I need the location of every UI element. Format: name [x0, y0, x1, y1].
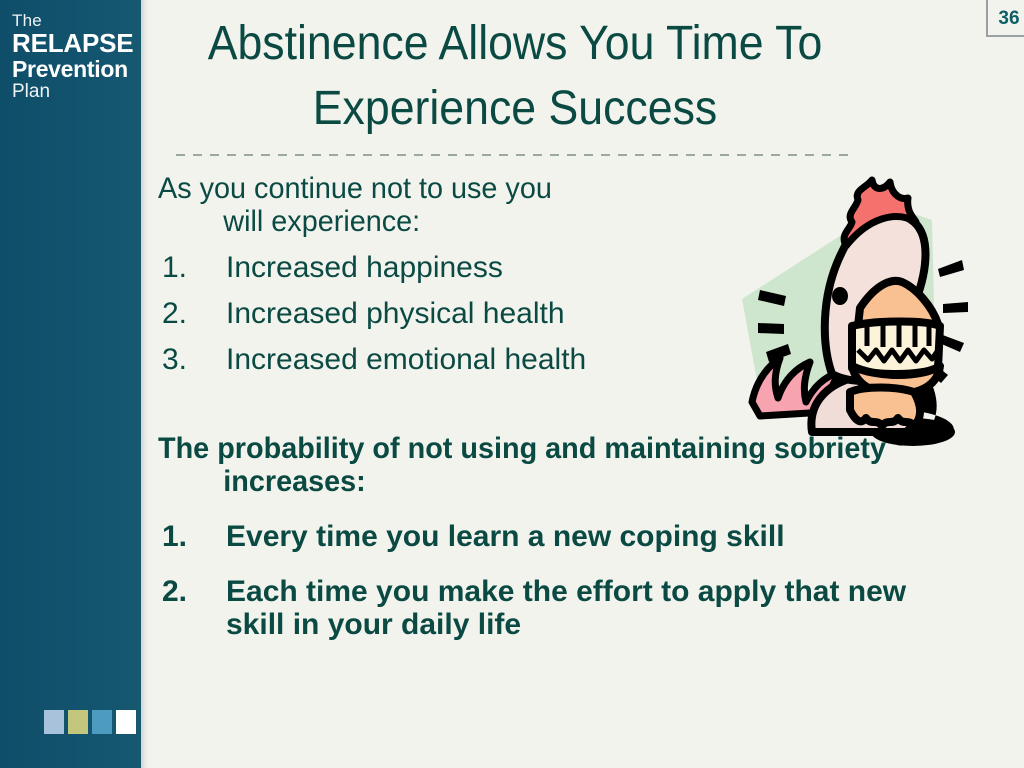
brand-line-plan: Plan — [12, 82, 140, 103]
brand-line-relapse: RELAPSE — [12, 30, 140, 57]
list-item-number: 1. — [158, 251, 226, 284]
title-divider — [176, 154, 856, 156]
section-one-lead-line1: As you continue not to use you — [158, 172, 552, 205]
brand-line-prevention: Prevention — [12, 57, 140, 81]
list-item-number: 2. — [158, 575, 226, 608]
brand-logo: The RELAPSE Prevention Plan — [12, 12, 140, 103]
sidebar-edge-highlight — [141, 0, 149, 768]
page-number: 36 — [990, 8, 1024, 30]
list-item: 2. Each time you make the effort to appl… — [158, 575, 998, 641]
swatch-olive — [68, 710, 88, 734]
smiling-chicken-clipart — [700, 160, 1024, 460]
swatch-light-blue — [44, 710, 64, 734]
section-two-lead-line2: increases: — [158, 465, 964, 498]
body-section-two: The probability of not using and maintai… — [158, 432, 998, 641]
list-item: 1. Every time you learn a new coping ski… — [158, 520, 998, 553]
slide-canvas: The RELAPSE Prevention Plan 36 Abstinenc… — [0, 0, 1024, 768]
list-item-number: 1. — [158, 520, 226, 553]
list-item-text: Every time you learn a new coping skill — [226, 520, 956, 553]
list-item-number: 2. — [158, 297, 226, 330]
page-title: Abstinence Allows You Time To Experience… — [185, 12, 845, 142]
swatch-white — [116, 710, 136, 734]
sidebar — [0, 0, 141, 768]
clipart-eye-left — [832, 287, 848, 305]
swatch-blue — [92, 710, 112, 734]
list-item-number: 3. — [158, 343, 226, 376]
brand-line-the: The — [12, 12, 140, 29]
sidebar-swatch-strip — [44, 710, 136, 734]
section-two-list: 1. Every time you learn a new coping ski… — [158, 520, 998, 641]
list-item-text: Each time you make the effort to apply t… — [226, 575, 956, 641]
